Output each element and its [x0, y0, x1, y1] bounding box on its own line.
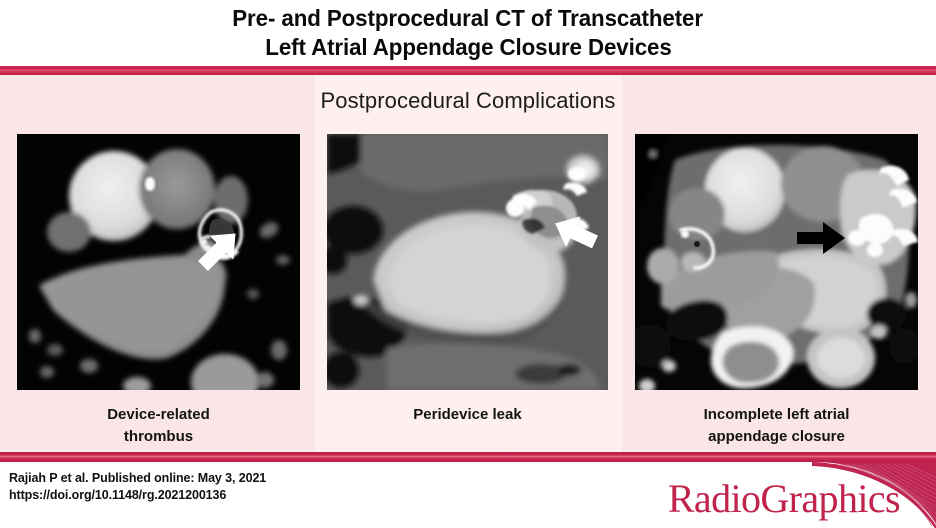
caption-device-related-thrombus: Device-related thrombus	[17, 404, 300, 448]
radiographics-logo: RadioGraphics	[626, 452, 936, 528]
ct-image-device-related-thrombus	[17, 134, 300, 390]
divider-top	[0, 66, 936, 75]
caption-line-1: Peridevice leak	[327, 404, 608, 426]
ct-image-peridevice-leak	[327, 134, 608, 390]
title-line-1: Pre- and Postprocedural CT of Transcathe…	[233, 4, 704, 33]
ct-image-incomplete-closure	[635, 134, 918, 390]
caption-incomplete-closure: Incomplete left atrial appendage closure	[635, 404, 918, 448]
caption-line-2: appendage closure	[635, 426, 918, 448]
section-heading: Postprocedural Complications	[0, 88, 936, 114]
citation-line-2[interactable]: https://doi.org/10.1148/rg.2021200136	[9, 487, 266, 504]
page-title: Pre- and Postprocedural CT of Transcathe…	[0, 0, 936, 66]
logo-wordmark: RadioGraphics	[668, 475, 900, 522]
caption-line-2: thrombus	[17, 426, 300, 448]
citation-line-1: Rajiah P et al. Published online: May 3,…	[9, 470, 266, 487]
footer: Rajiah P et al. Published online: May 3,…	[0, 462, 936, 528]
citation: Rajiah P et al. Published online: May 3,…	[9, 470, 266, 504]
title-line-2: Left Atrial Appendage Closure Devices	[265, 33, 671, 62]
caption-line-1: Device-related	[17, 404, 300, 426]
caption-line-1: Incomplete left atrial	[635, 404, 918, 426]
caption-peridevice-leak: Peridevice leak	[327, 404, 608, 426]
